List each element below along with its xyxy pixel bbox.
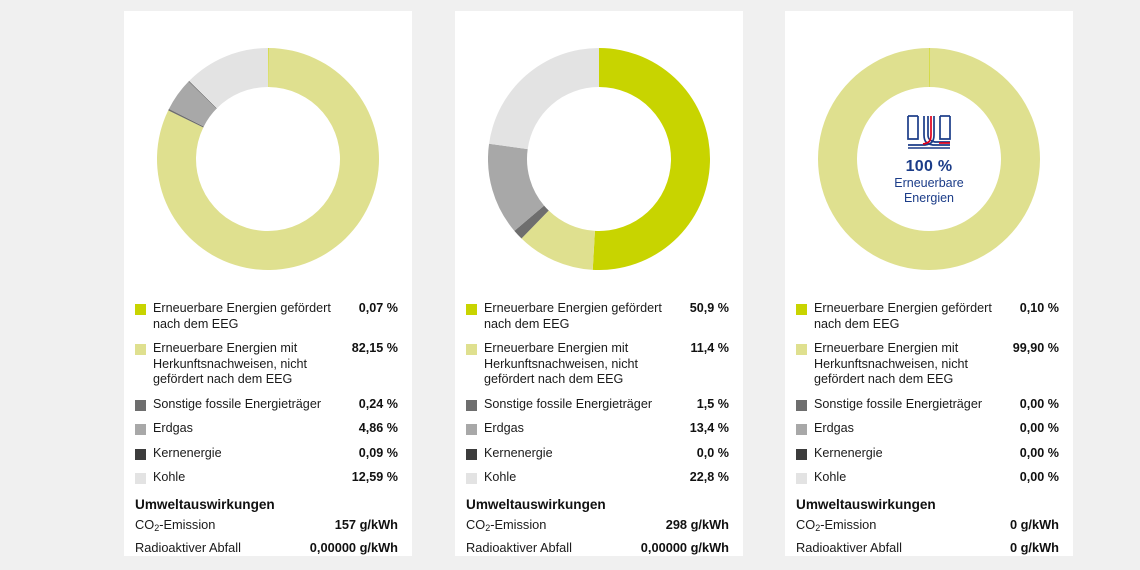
legend-label: Sonstige fossile Energieträger (153, 397, 344, 413)
legend-value: 82,15 % (344, 341, 398, 357)
legend-item-coal: Kohle 12,59 % (135, 470, 398, 486)
donut-slice (593, 48, 710, 270)
legend-label: Kohle (484, 470, 675, 486)
legend-label: Kernenergie (814, 446, 1005, 462)
impact-block-1: Umweltauswirkungen CO2-Emission 157 g/kW… (124, 495, 412, 557)
legend-value: 22,8 % (675, 470, 729, 486)
legend-label: Erdgas (814, 421, 1005, 437)
impact-label-co2: CO2-Emission (796, 515, 876, 538)
legend-item-renewable-eeg: Erneuerbare Energien gefördert nach dem … (796, 301, 1059, 332)
impact-label-co2: CO2-Emission (466, 515, 546, 538)
legend-value: 1,5 % (675, 397, 729, 413)
legend-item-natural-gas: Erdgas 4,86 % (135, 421, 398, 437)
legend-label: Sonstige fossile Energieträger (484, 397, 675, 413)
legend-label: Erdgas (153, 421, 344, 437)
swatch-natural-gas-icon (466, 424, 477, 435)
donut-chart-3: 100 % Erneuerbare Energien (785, 11, 1073, 301)
swatch-renewable-eeg-icon (135, 304, 146, 315)
strommix-card-1: Erneuerbare Energien gefördert nach dem … (124, 11, 412, 556)
legend-label: Erneuerbare Energien gefördert nach dem … (153, 301, 344, 332)
legend-item-renewable-eeg: Erneuerbare Energien gefördert nach dem … (466, 301, 729, 332)
legend-value: 0,07 % (344, 301, 398, 317)
impact-title: Umweltauswirkungen (466, 495, 729, 514)
donut-1-svg (157, 48, 379, 270)
legend-3: Erneuerbare Energien gefördert nach dem … (785, 301, 1073, 486)
impact-row-radioactive: Radioaktiver Abfall 0 g/kWh (796, 538, 1059, 557)
strommix-card-3: 100 % Erneuerbare Energien Erneuerbare E… (785, 11, 1073, 556)
legend-label: Erneuerbare Energien gefördert nach dem … (814, 301, 1005, 332)
legend-value: 0,00 % (1005, 470, 1059, 486)
swatch-natural-gas-icon (796, 424, 807, 435)
swatch-coal-icon (466, 473, 477, 484)
legend-label: Erdgas (484, 421, 675, 437)
impact-row-co2: CO2-Emission 0 g/kWh (796, 515, 1059, 538)
legend-2: Erneuerbare Energien gefördert nach dem … (455, 301, 743, 486)
legend-item-renewable-eeg: Erneuerbare Energien gefördert nach dem … (135, 301, 398, 332)
impact-row-co2: CO2-Emission 157 g/kWh (135, 515, 398, 538)
donut-1-graphic (157, 48, 379, 270)
legend-label: Erneuerbare Energien mit Herkunftsnachwe… (484, 341, 675, 388)
impact-value-co2: 298 g/kWh (666, 515, 729, 534)
legend-value: 11,4 % (675, 341, 729, 357)
swatch-renewable-certificates-icon (796, 344, 807, 355)
donut-slice (489, 48, 599, 149)
swatch-nuclear-icon (135, 449, 146, 460)
legend-1: Erneuerbare Energien gefördert nach dem … (124, 301, 412, 486)
impact-label-radioactive: Radioaktiver Abfall (466, 538, 572, 557)
legend-item-natural-gas: Erdgas 13,4 % (466, 421, 729, 437)
legend-item-coal: Kohle 0,00 % (796, 470, 1059, 486)
impact-label-radioactive: Radioaktiver Abfall (796, 538, 902, 557)
legend-value: 0,0 % (675, 446, 729, 462)
legend-label: Erneuerbare Energien gefördert nach dem … (484, 301, 675, 332)
legend-label: Kernenergie (153, 446, 344, 462)
swatch-nuclear-icon (796, 449, 807, 460)
legend-item-renewable-certificates: Erneuerbare Energien mit Herkunftsnachwe… (466, 341, 729, 388)
legend-item-nuclear: Kernenergie 0,0 % (466, 446, 729, 462)
legend-item-other-fossil: Sonstige fossile Energieträger 0,00 % (796, 397, 1059, 413)
strommix-card-2: Erneuerbare Energien gefördert nach dem … (455, 11, 743, 556)
legend-value: 99,90 % (1005, 341, 1059, 357)
swatch-renewable-certificates-icon (135, 344, 146, 355)
legend-item-renewable-certificates: Erneuerbare Energien mit Herkunftsnachwe… (796, 341, 1059, 388)
swatch-renewable-eeg-icon (466, 304, 477, 315)
impact-block-2: Umweltauswirkungen CO2-Emission 298 g/kW… (455, 495, 743, 557)
donut-2-svg (488, 48, 710, 270)
swatch-renewable-eeg-icon (796, 304, 807, 315)
legend-item-coal: Kohle 22,8 % (466, 470, 729, 486)
legend-value: 0,00 % (1005, 421, 1059, 437)
donut-2-graphic (488, 48, 710, 270)
impact-title: Umweltauswirkungen (796, 495, 1059, 514)
impact-title: Umweltauswirkungen (135, 495, 398, 514)
legend-value: 13,4 % (675, 421, 729, 437)
legend-label: Sonstige fossile Energieträger (814, 397, 1005, 413)
donut-chart-1 (124, 11, 412, 301)
legend-value: 0,24 % (344, 397, 398, 413)
charts-board: Erneuerbare Energien gefördert nach dem … (0, 0, 1140, 570)
swatch-other-fossil-icon (135, 400, 146, 411)
legend-item-nuclear: Kernenergie 0,00 % (796, 446, 1059, 462)
impact-row-co2: CO2-Emission 298 g/kWh (466, 515, 729, 538)
impact-block-3: Umweltauswirkungen CO2-Emission 0 g/kWh … (785, 495, 1073, 557)
impact-value-radioactive: 0,00000 g/kWh (310, 538, 398, 557)
swatch-renewable-certificates-icon (466, 344, 477, 355)
legend-value: 12,59 % (344, 470, 398, 486)
impact-label-radioactive: Radioaktiver Abfall (135, 538, 241, 557)
swatch-nuclear-icon (466, 449, 477, 460)
impact-value-radioactive: 0,00000 g/kWh (641, 538, 729, 557)
legend-label: Erneuerbare Energien mit Herkunftsnachwe… (814, 341, 1005, 388)
donut-chart-2 (455, 11, 743, 301)
legend-item-nuclear: Kernenergie 0,09 % (135, 446, 398, 462)
legend-value: 0,00 % (1005, 446, 1059, 462)
legend-label: Kohle (814, 470, 1005, 486)
legend-item-natural-gas: Erdgas 0,00 % (796, 421, 1059, 437)
swatch-coal-icon (135, 473, 146, 484)
legend-label: Erneuerbare Energien mit Herkunftsnachwe… (153, 341, 344, 388)
impact-row-radioactive: Radioaktiver Abfall 0,00000 g/kWh (466, 538, 729, 557)
legend-item-other-fossil: Sonstige fossile Energieträger 0,24 % (135, 397, 398, 413)
legend-value: 0,00 % (1005, 397, 1059, 413)
impact-value-co2: 157 g/kWh (335, 515, 398, 534)
swatch-other-fossil-icon (466, 400, 477, 411)
legend-value: 4,86 % (344, 421, 398, 437)
legend-value: 0,09 % (344, 446, 398, 462)
legend-item-other-fossil: Sonstige fossile Energieträger 1,5 % (466, 397, 729, 413)
donut-3-graphic: 100 % Erneuerbare Energien (818, 48, 1040, 270)
legend-value: 0,10 % (1005, 301, 1059, 317)
legend-label: Kernenergie (484, 446, 675, 462)
impact-label-co2: CO2-Emission (135, 515, 215, 538)
donut-3-svg (818, 48, 1040, 270)
donut-slice (818, 48, 1040, 270)
impact-value-co2: 0 g/kWh (1010, 515, 1059, 534)
swatch-coal-icon (796, 473, 807, 484)
legend-item-renewable-certificates: Erneuerbare Energien mit Herkunftsnachwe… (135, 341, 398, 388)
legend-label: Kohle (153, 470, 344, 486)
swatch-natural-gas-icon (135, 424, 146, 435)
legend-value: 50,9 % (675, 301, 729, 317)
swatch-other-fossil-icon (796, 400, 807, 411)
impact-value-radioactive: 0 g/kWh (1010, 538, 1059, 557)
impact-row-radioactive: Radioaktiver Abfall 0,00000 g/kWh (135, 538, 398, 557)
